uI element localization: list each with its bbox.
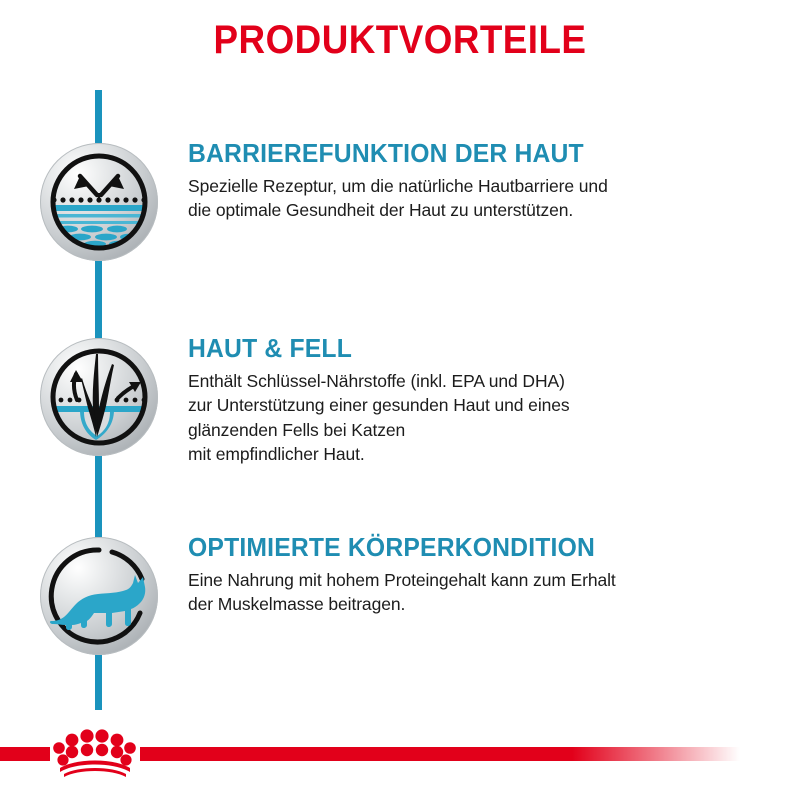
benefit-title: BARRIEREFUNKTION DER HAUT <box>188 140 739 167</box>
product-benefits-page: PRODUKTVORTEILE <box>0 0 800 800</box>
timeline-segment-middle-2 <box>95 453 102 541</box>
benefit-line: Spezielle Rezeptur, um die natürliche Ha… <box>188 174 768 198</box>
page-title: PRODUKTVORTEILE <box>32 20 768 60</box>
benefit-line: der Muskelmasse beitragen. <box>188 592 768 616</box>
benefit-line: mit empfindlicher Haut. <box>188 442 768 466</box>
footer <box>0 744 800 800</box>
benefit-title: OPTIMIERTE KÖRPERKONDITION <box>188 534 739 561</box>
hair-follicle-icon <box>40 338 158 456</box>
benefit-line: glänzenden Fells bei Katzen <box>188 418 768 442</box>
benefit-description: Enthält Schlüssel-Nährstoffe (inkl. EPA … <box>188 369 768 466</box>
benefit-line: die optimale Gesundheit der Haut zu unte… <box>188 198 768 222</box>
footer-rule-right <box>140 747 740 761</box>
footer-rule-left <box>0 747 50 761</box>
benefit-line: Enthält Schlüssel-Nährstoffe (inkl. EPA … <box>188 369 768 393</box>
skin-barrier-icon <box>40 143 158 261</box>
timeline-segment-middle-1 <box>95 258 102 343</box>
timeline-segment-top <box>95 90 102 148</box>
timeline-segment-bottom <box>95 652 102 710</box>
benefit-item-hair-and-coat: HAUT & FELL Enthält Schlüssel-Nährstoffe… <box>188 335 768 466</box>
benefit-item-skin-barrier: BARRIEREFUNKTION DER HAUT Spezielle Reze… <box>188 140 768 223</box>
benefit-line: zur Unterstützung einer gesunden Haut un… <box>188 393 768 417</box>
benefit-description: Eine Nahrung mit hohem Proteingehalt kan… <box>188 568 768 616</box>
benefit-line: Eine Nahrung mit hohem Proteingehalt kan… <box>188 568 768 592</box>
benefit-description: Spezielle Rezeptur, um die natürliche Ha… <box>188 174 768 222</box>
royal-canin-crown-icon <box>50 724 142 780</box>
cat-silhouette-icon <box>40 537 158 655</box>
benefit-item-body-condition: OPTIMIERTE KÖRPERKONDITION Eine Nahrung … <box>188 534 768 617</box>
benefit-title: HAUT & FELL <box>188 335 739 362</box>
